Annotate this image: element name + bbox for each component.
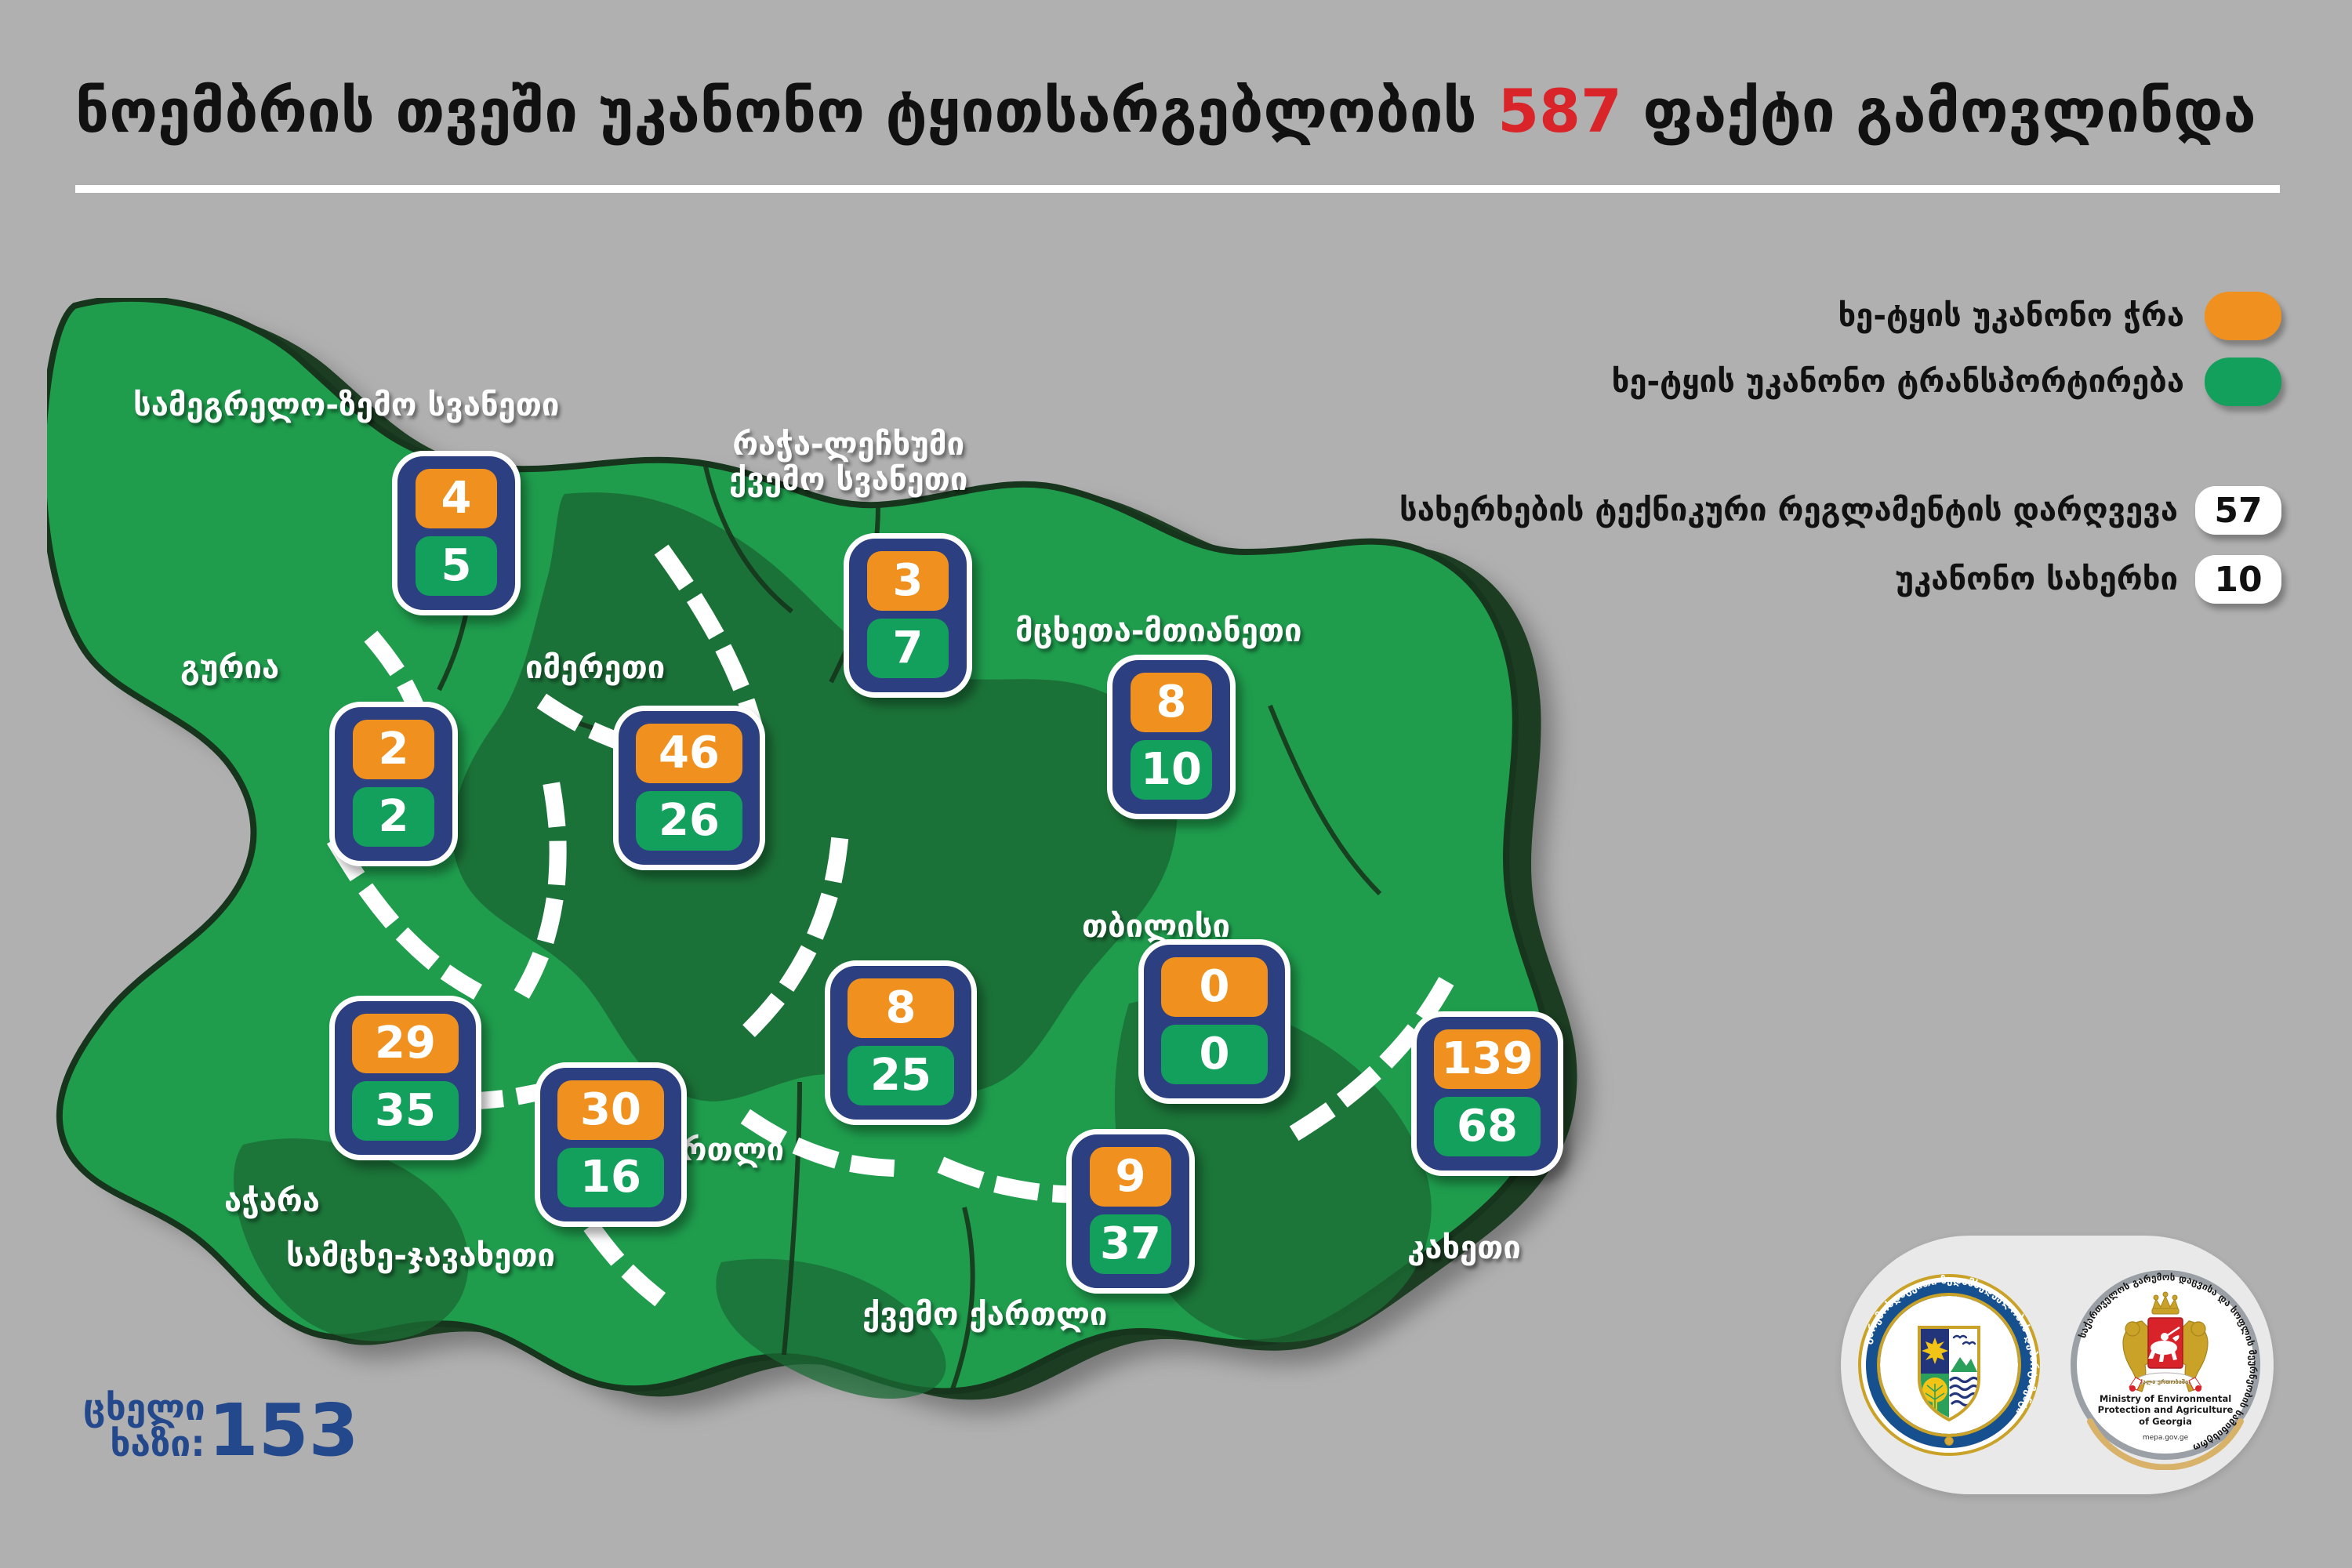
badge-cut-value: 3 bbox=[867, 551, 949, 611]
stat-row-sawmill-regulation: სახერხების ტექნიკური რეგლამენტის დარღვევ… bbox=[1341, 486, 2281, 535]
badge-transport-value: 68 bbox=[1434, 1097, 1541, 1156]
badge-cut-value: 139 bbox=[1434, 1029, 1541, 1089]
region-label-samegrelo: სამეგრელო-ზემო სვანეთი bbox=[133, 388, 559, 423]
badge-cut-value: 4 bbox=[416, 469, 497, 528]
ministry-en-line-3: of Georgia bbox=[2060, 1416, 2270, 1427]
region-label-racha: რაჭა-ლეჩხუმიქვემო სვანეთი bbox=[729, 427, 967, 498]
region-label-adjara: აჭარა bbox=[224, 1184, 320, 1219]
ministry-name-english: Ministry of Environmental Protection and… bbox=[2060, 1393, 2270, 1427]
region-badge-kakheti[interactable]: 139 68 bbox=[1411, 1011, 1563, 1176]
region-badge-samtskhe[interactable]: 30 16 bbox=[535, 1062, 687, 1227]
stat-label-illegal-sawmill: უკანონო სახერხი bbox=[1895, 561, 2178, 597]
stat-label-sawmill-regulation: სახერხების ტექნიკური რეგლამენტის დარღვევ… bbox=[1399, 492, 2178, 528]
legend-swatch-orange bbox=[2205, 292, 2281, 340]
title-text-before: ნოემბრის თვეში უკანონო ტყითსარგებლობის bbox=[75, 76, 1477, 146]
stat-value-illegal-sawmill: 10 bbox=[2195, 555, 2281, 604]
georgia-map: სამეგრელო-ზემო სვანეთი რაჭა-ლეჩხუმიქვემო… bbox=[47, 298, 1662, 1521]
region-badge-imereti[interactable]: 46 26 bbox=[613, 706, 765, 870]
hotline-line-2: ხაზი: bbox=[83, 1425, 205, 1461]
ministry-website-url: mepa.gov.ge bbox=[2060, 1434, 2270, 1442]
badge-transport-value: 16 bbox=[557, 1148, 664, 1207]
legend-item-illegal-cutting: ხე-ტყის უკანონო ჭრა bbox=[1419, 292, 2281, 340]
hotline-line-1: ცხელი bbox=[83, 1389, 205, 1425]
region-badge-shida-kartli[interactable]: 8 25 bbox=[825, 960, 977, 1125]
region-label-kvemo-kartli: ქვემო ქართლი bbox=[862, 1298, 1107, 1333]
legend-label-illegal-cutting: ხე-ტყის უკანონო ჭრა bbox=[1838, 298, 2184, 334]
badge-cut-value: 9 bbox=[1090, 1147, 1171, 1207]
region-badge-kvemo-kartli[interactable]: 9 37 bbox=[1066, 1129, 1195, 1294]
title-text-after: ფაქტი გამოვლინდა bbox=[1642, 76, 2256, 146]
region-label-kakheti: კახეთი bbox=[1407, 1231, 1521, 1266]
stat-row-illegal-sawmill: უკანონო სახერხი 10 bbox=[1341, 555, 2281, 604]
badge-transport-value: 2 bbox=[353, 787, 434, 847]
badge-transport-value: 5 bbox=[416, 536, 497, 596]
region-badge-adjara[interactable]: 29 35 bbox=[329, 996, 481, 1160]
hotline-block: ცხელი ხაზი: 153 bbox=[83, 1389, 359, 1461]
badge-cut-value: 0 bbox=[1161, 957, 1268, 1017]
badge-cut-value: 8 bbox=[1131, 673, 1212, 732]
hotline-words: ცხელი ხაზი: bbox=[83, 1389, 205, 1461]
region-label-samtskhe: სამცხე-ჯავახეთი bbox=[286, 1239, 555, 1274]
badge-transport-value: 25 bbox=[848, 1046, 954, 1105]
badge-transport-value: 10 bbox=[1131, 740, 1212, 800]
stat-value-sawmill-regulation: 57 bbox=[2195, 486, 2281, 535]
region-badge-mtskheta[interactable]: 8 10 bbox=[1107, 655, 1236, 819]
environmental-supervision-logo: გარემოსდაცვითი ზედამხედველობის დეპარტამე… bbox=[1844, 1260, 2054, 1470]
badge-cut-value: 30 bbox=[557, 1080, 664, 1140]
ministry-en-line-2: Protection and Agriculture bbox=[2060, 1404, 2270, 1415]
region-badge-samegrelo[interactable]: 4 5 bbox=[392, 451, 521, 615]
badge-transport-value: 35 bbox=[352, 1081, 459, 1141]
region-badge-racha[interactable]: 3 7 bbox=[844, 533, 972, 698]
legend-swatch-green bbox=[2205, 358, 2281, 406]
ministry-logo: საქართველოს გარემოს დაცვისა და სოფლის მე… bbox=[2060, 1260, 2270, 1470]
legend: ხე-ტყის უკანონო ჭრა ხე-ტყის უკანონო ტრან… bbox=[1419, 292, 2281, 423]
ministry-en-line-1: Ministry of Environmental bbox=[2060, 1393, 2270, 1404]
region-badge-guria[interactable]: 2 2 bbox=[329, 702, 458, 866]
svg-text:ძალა ერთობაშია: ძალა ერთობაშია bbox=[2140, 1378, 2192, 1385]
badge-transport-value: 0 bbox=[1161, 1025, 1268, 1084]
page-title: ნოემბრის თვეში უკანონო ტყითსარგებლობის 5… bbox=[75, 82, 2286, 141]
badge-cut-value: 2 bbox=[353, 720, 434, 779]
stats-panel: სახერხების ტექნიკური რეგლამენტის დარღვევ… bbox=[1341, 486, 2281, 624]
region-label-guria: გურია bbox=[180, 651, 279, 686]
legend-label-illegal-transport: ხე-ტყის უკანონო ტრანსპორტირება bbox=[1612, 364, 2184, 400]
legend-item-illegal-transport: ხე-ტყის უკანონო ტრანსპორტირება bbox=[1419, 358, 2281, 406]
badge-transport-value: 26 bbox=[636, 791, 742, 851]
region-label-imereti: იმერეთი bbox=[525, 651, 665, 686]
title-divider bbox=[75, 185, 2280, 193]
badge-cut-value: 8 bbox=[848, 978, 954, 1038]
badge-transport-value: 7 bbox=[867, 619, 949, 678]
infographic-canvas: ნოემბრის თვეში უკანონო ტყითსარგებლობის 5… bbox=[0, 0, 2352, 1568]
hotline-number: 153 bbox=[209, 1399, 359, 1461]
badge-cut-value: 29 bbox=[352, 1014, 459, 1073]
region-label-mtskheta: მცხეთა-მთიანეთი bbox=[1015, 614, 1302, 649]
logo-bar: გარემოსდაცვითი ზედამხედველობის დეპარტამე… bbox=[1841, 1236, 2274, 1494]
badge-cut-value: 46 bbox=[636, 724, 742, 783]
region-badge-tbilisi[interactable]: 0 0 bbox=[1138, 939, 1290, 1104]
title-highlight-number: 587 bbox=[1497, 76, 1622, 146]
badge-transport-value: 37 bbox=[1090, 1214, 1171, 1274]
